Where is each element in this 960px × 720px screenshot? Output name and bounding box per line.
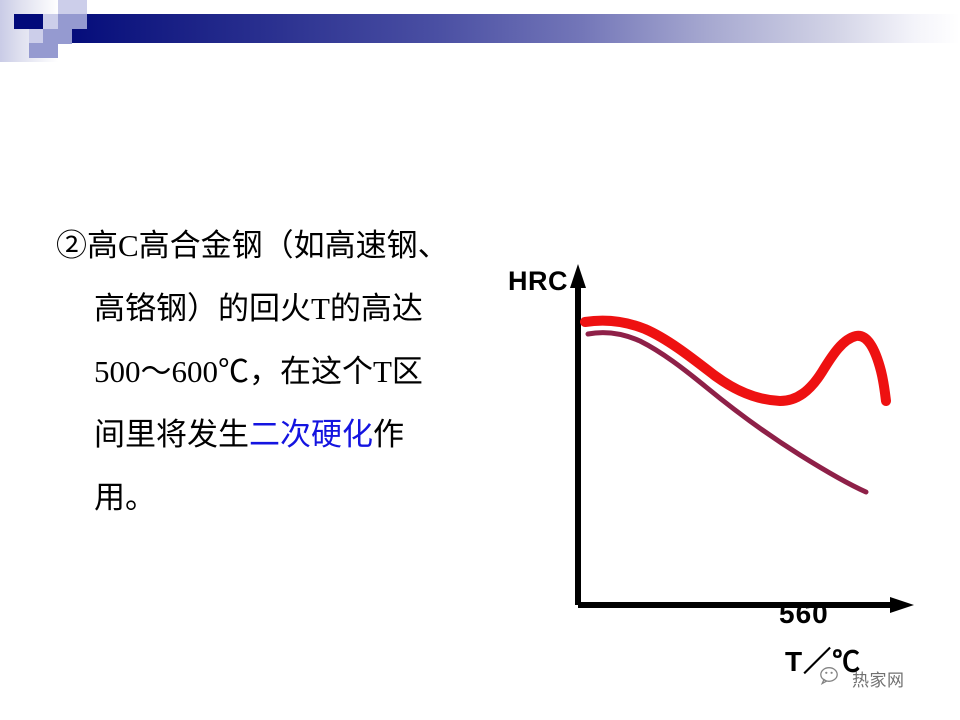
slide-body-text: ②高C高合金钢（如高速钢、 高铬钢）的回火T的高达 500～600℃，在这个T区… (56, 214, 508, 529)
body-line-4-prefix: 间里将发生 (94, 417, 249, 452)
watermark: 热家网 (820, 666, 905, 691)
decorative-banner (0, 0, 960, 62)
curve-high-alloy-steel (585, 321, 886, 401)
body-line-2: 高铬钢）的回火T的高达 (56, 277, 508, 340)
banner-square-medium-2 (43, 29, 72, 44)
wechat-icon (820, 666, 846, 691)
x-axis-arrowhead (890, 597, 914, 613)
y-axis-arrowhead (570, 264, 586, 288)
body-line-4: 间里将发生二次硬化作 (56, 403, 508, 466)
x-axis (578, 597, 914, 613)
banner-square-medium-1 (58, 14, 87, 29)
body-line-5-text: 用。 (94, 480, 156, 515)
body-line-1: ②高C高合金钢（如高速钢、 (56, 214, 508, 277)
banner-square-medium-3 (29, 43, 58, 58)
body-line-1-text: ②高C高合金钢（如高速钢、 (56, 228, 449, 263)
y-axis-label: HRC (508, 266, 568, 297)
wechat-icon-glyph (820, 666, 846, 686)
watermark-text: 热家网 (852, 666, 905, 691)
y-axis (570, 264, 586, 605)
x-axis-tick-560: 560 (779, 598, 829, 630)
body-line-3: 500～600℃，在这个T区 (56, 340, 508, 403)
body-line-2-text: 高铬钢）的回火T的高达 (94, 291, 423, 326)
body-line-4-suffix: 作 (373, 417, 404, 452)
banner-square-navy (14, 14, 43, 29)
banner-gradient-bar (58, 14, 960, 43)
body-line-3-text: 500～600℃，在这个T区 (94, 354, 423, 389)
banner-square-light-1 (58, 0, 87, 15)
curve-plain-carbon-steel (588, 333, 866, 492)
highlighted-term-secondary-hardening: 二次硬化 (249, 417, 373, 452)
body-line-5: 用。 (56, 466, 508, 529)
